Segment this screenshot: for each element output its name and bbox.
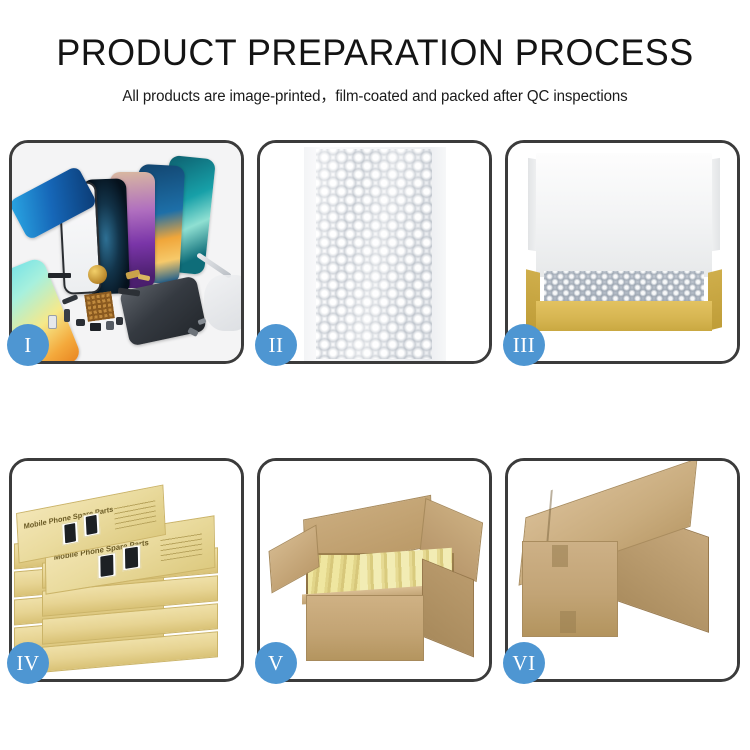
process-step-3: III <box>505 140 740 364</box>
small-part <box>76 319 85 326</box>
bubble-wrapped-contents <box>544 271 704 303</box>
sealed-carton-photo <box>508 461 737 679</box>
small-part <box>64 309 70 322</box>
box-front-panel <box>536 301 712 331</box>
box-lid-phone-image <box>97 552 116 579</box>
small-part <box>106 321 114 330</box>
chip-array-part <box>84 291 114 321</box>
speaker-module-part <box>88 265 107 284</box>
box-lid-spec-lines <box>114 497 156 529</box>
process-step-5: V <box>257 458 492 682</box>
process-step-4: Mobile Phone Spare Parts Mobile Phone Sp… <box>9 458 244 682</box>
small-part <box>116 317 123 325</box>
box-lid-phone-image <box>122 544 141 571</box>
carton-tape-mark <box>560 611 576 633</box>
sim-tray-part <box>48 315 57 329</box>
page-title: PRODUCT PREPARATION PROCESS <box>11 0 739 75</box>
bubble-wrap-sheen <box>316 149 432 359</box>
process-step-2: II <box>257 140 492 364</box>
process-step-1: I <box>9 140 244 364</box>
page-subtitle: All products are image-printed，film-coat… <box>6 75 745 106</box>
box-stack: Mobile Phone Spare Parts Mobile Phone Sp… <box>14 471 241 675</box>
product-preparation-infographic: PRODUCT PREPARATION PROCESS All products… <box>0 0 750 750</box>
sealed-carton <box>522 479 728 665</box>
step-badge-4: IV <box>7 642 49 684</box>
step-badge-2: II <box>255 324 297 366</box>
step-badge-5: V <box>255 642 297 684</box>
process-step-6: VI <box>505 458 740 682</box>
hand <box>204 275 241 331</box>
product-parts-photo <box>12 143 241 361</box>
box-lid-phone-image <box>83 512 101 537</box>
stacked-boxes-photo: Mobile Phone Spare Parts Mobile Phone Sp… <box>12 461 241 679</box>
header: PRODUCT PREPARATION PROCESS All products… <box>0 0 750 106</box>
small-part <box>90 323 101 331</box>
open-carton-photo <box>260 461 489 679</box>
step-badge-6: VI <box>503 642 545 684</box>
carton-tape-mark <box>552 545 568 567</box>
box-lid-phone-image <box>61 520 79 545</box>
process-step-grid: I II III <box>9 140 741 682</box>
carton-front-panel <box>306 595 424 661</box>
box-lid-spec-lines <box>160 530 202 561</box>
battery-connector-part <box>48 273 71 278</box>
step-badge-3: III <box>503 324 545 366</box>
step-badge-1: I <box>7 324 49 366</box>
flex-cable-part <box>62 294 79 305</box>
inner-box-photo <box>508 143 737 361</box>
open-carton <box>270 481 484 671</box>
bubble-wrap-photo <box>260 143 489 361</box>
box-open-lid <box>536 153 712 277</box>
